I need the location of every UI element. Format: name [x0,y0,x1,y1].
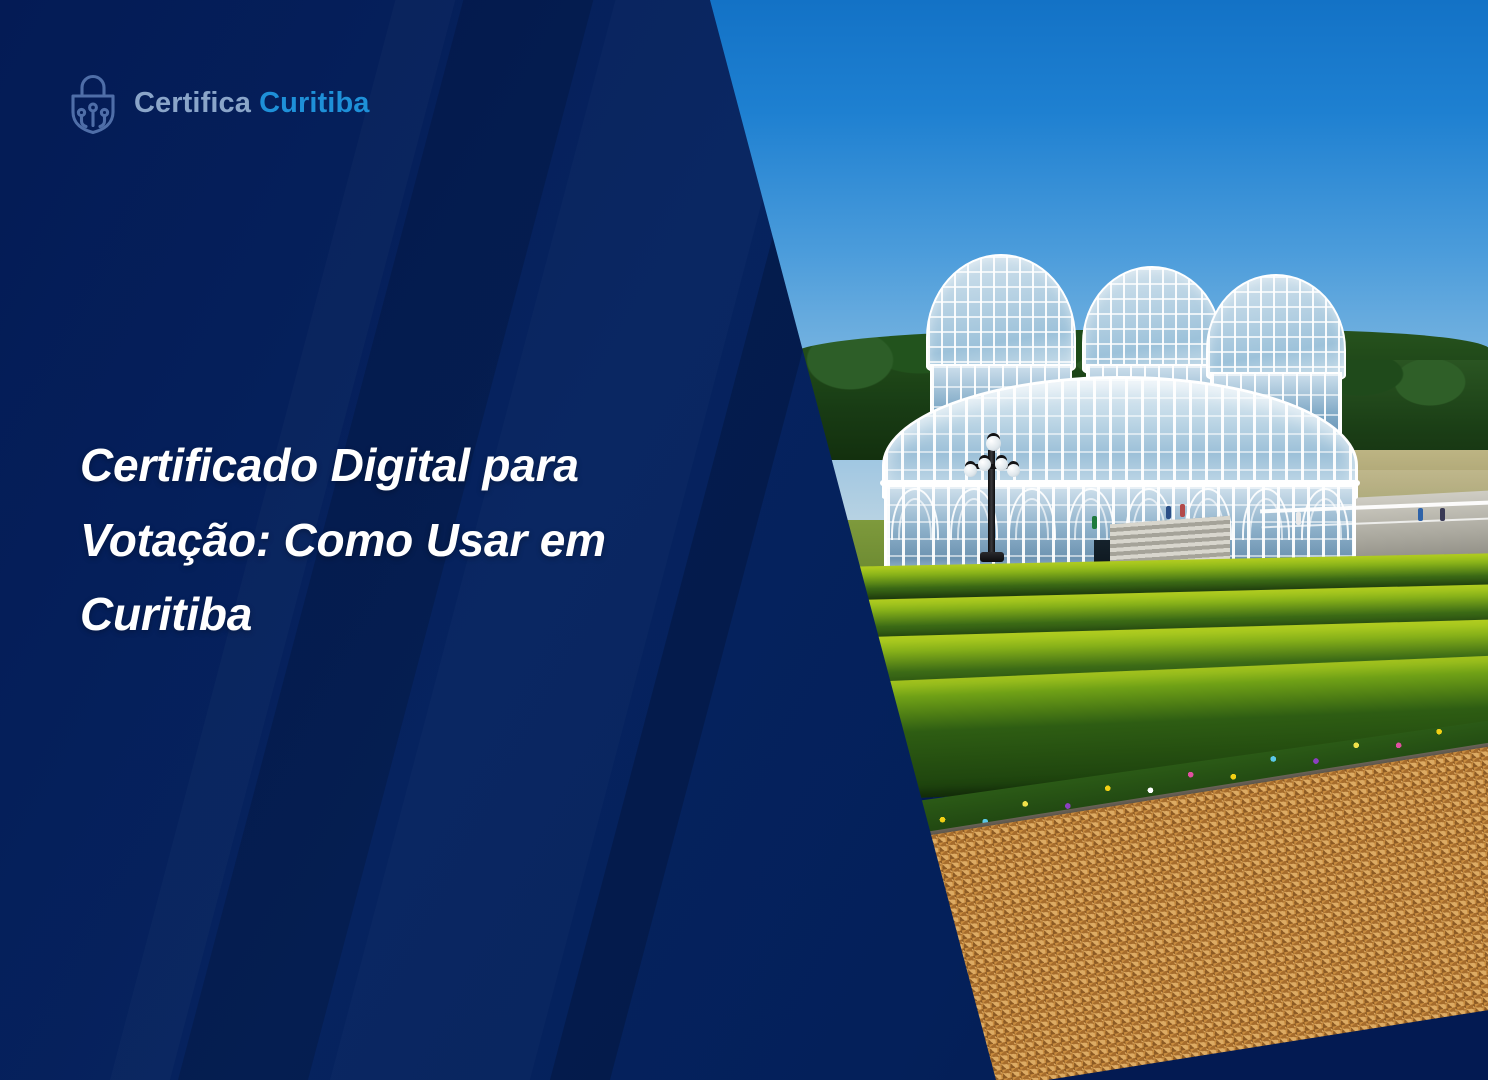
brand-word-certifica: Certifica [134,87,251,119]
lamp-globe [964,464,977,477]
brand-word-curitiba: Curitiba [259,87,369,119]
padlock-circuit-icon [66,72,120,134]
dome-right [1206,274,1346,382]
visitor-figure [1180,504,1185,517]
brand-logo[interactable]: Certifica Curitiba [66,72,369,134]
page-title: Certificado Digital para Votação: Como U… [80,428,680,652]
brand-wordmark: Certifica Curitiba [134,89,369,118]
blog-cover: Certifica Curitiba Certificado Digital p… [0,0,1488,1080]
lamp-globe [1007,464,1020,477]
lamp-globe-top [986,436,1001,451]
lamp-post [962,424,1022,564]
arch [1067,488,1115,540]
greenhouse [868,244,1368,564]
visitor-figure [1296,512,1301,525]
dome-center [1082,266,1222,376]
arch [891,488,939,540]
visitor-figure [1092,516,1097,529]
arch [1301,488,1349,540]
dome-left [926,254,1076,374]
visitor-figure [1440,508,1445,521]
visitor-figure [1166,506,1171,519]
lamp-globe [978,458,991,471]
arch [1242,488,1290,540]
visitor-figure [1418,508,1423,521]
lamp-base [980,552,1004,562]
